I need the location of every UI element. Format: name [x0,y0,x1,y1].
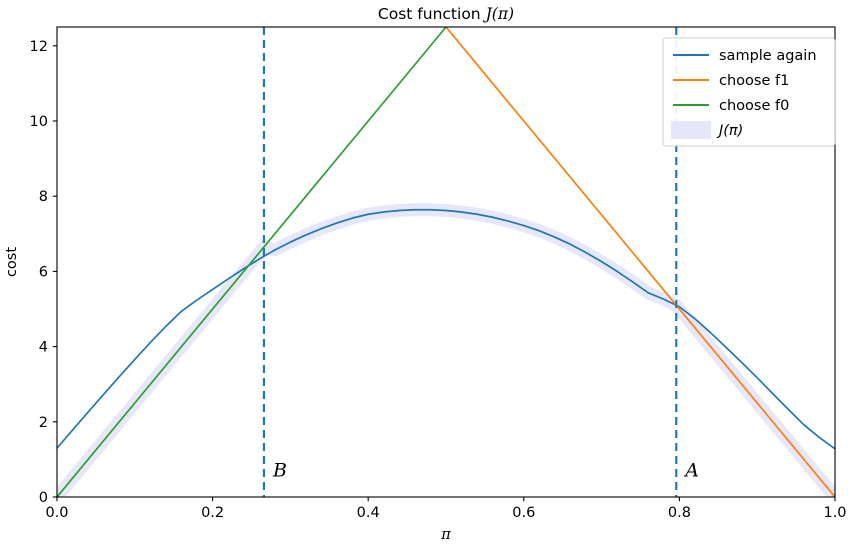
x-tick-label: 0.2 [201,505,224,521]
legend-label: choose f0 [719,98,789,114]
chart-title: Cost function J(π) [378,5,514,23]
band-j-pi [57,210,835,497]
x-tick-label: 0.8 [668,505,691,521]
y-tick-label: 8 [39,189,48,205]
x-tick-label: 0.4 [357,505,380,521]
x-axis-label: π [440,527,451,543]
y-axis-label: cost [4,247,20,277]
y-tick-label: 4 [39,340,48,356]
matplotlib-figure: BA0.00.20.40.60.81.0024681012πcostCost f… [0,0,853,547]
x-tick-label: 1.0 [823,505,846,521]
x-tick-label: 0.6 [512,505,535,521]
chart-canvas: BA0.00.20.40.60.81.0024681012πcostCost f… [0,0,853,547]
legend-label: sample again [719,48,817,64]
x-tick-label: 0.0 [45,505,68,521]
y-tick-label: 0 [39,490,48,506]
legend-label: J(π) [716,123,743,139]
legend-label: choose f1 [719,73,789,89]
legend: sample againchoose f1choose f0J(π) [663,38,835,146]
series-line-choose-f0 [57,27,446,497]
y-tick-label: 2 [39,415,48,431]
y-tick-label: 6 [39,264,48,280]
annotation-B: B [272,459,287,481]
series-line-sample-again [57,210,835,449]
legend-swatch-patch [671,121,711,139]
annotation-A: A [683,459,699,481]
y-tick-label: 12 [30,39,48,55]
y-tick-label: 10 [30,114,48,130]
